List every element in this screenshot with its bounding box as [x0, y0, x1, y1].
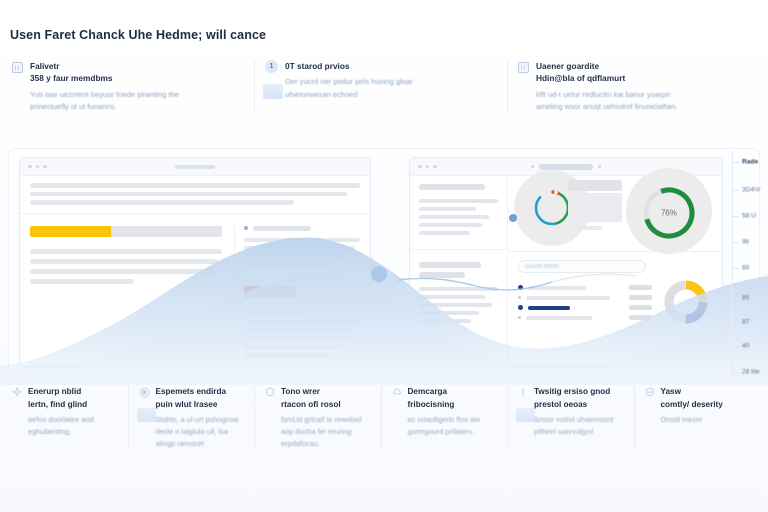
bottom-feature-0-heading-2: lertn, find glind: [28, 399, 116, 412]
top-feature-2-subheading: Hdin@bla of qdflamurt: [536, 72, 686, 84]
right-value-axis: Rade 3D4\V 58 U 9tl 65 85 87 40 28 tile: [732, 150, 768, 380]
axis-tick-3: 9tl: [742, 239, 749, 246]
row-tag: [629, 295, 652, 300]
document-icon: [518, 62, 529, 73]
cta-button[interactable]: [244, 286, 296, 298]
bullet-icon: [518, 285, 523, 290]
axis-tick-1: 3D4\V: [742, 187, 760, 194]
bottom-feature-1-heading-2: puin wlut lrasee: [156, 399, 243, 412]
cloud-icon: [392, 387, 402, 397]
document-icon: [12, 62, 23, 73]
axis-tick-6: 87: [742, 319, 749, 326]
row-tag: [629, 315, 652, 320]
right-window-body: 76% Seorbi tdtlen: [410, 176, 722, 366]
tooltip-card-footer: [576, 226, 602, 230]
axis-tick-2: 58 U: [742, 213, 756, 220]
charts-panel: 76%: [508, 176, 722, 252]
maximize-icon[interactable]: [433, 165, 437, 169]
close-icon[interactable]: [28, 165, 32, 169]
top-feature-2[interactable]: Uaener goardite Hdin@bla of qdflamurt kl…: [507, 60, 760, 113]
bottom-feature-2-heading-1: Tono wrer: [281, 386, 369, 399]
top-feature-0-body: Yuti oae uezntent beyuor friede pirantin…: [30, 89, 180, 114]
list-panel: Seorbi tdtlen: [508, 252, 722, 366]
forward-icon[interactable]: [598, 165, 601, 168]
bottom-feature-1-heading-1: Espemets endirda: [156, 386, 243, 399]
right-content: 76% Seorbi tdtlen: [508, 176, 722, 366]
top-feature-1-heading: 0T starod prvios: [285, 60, 435, 72]
top-feature-2-body: klft ud-t uetur redlucttn kai banur yuar…: [536, 89, 686, 114]
row-tag: [629, 285, 652, 290]
panels-container: 76% Seorbi tdtlen: [8, 148, 760, 376]
top-feature-1-thumbnail: [263, 84, 283, 99]
bottom-feature-0[interactable]: Enerurp nblid lertn, find glind aefon du…: [8, 386, 128, 450]
minimize-icon[interactable]: [36, 165, 40, 169]
bottom-feature-2-heading-2: rtacon ofl rosol: [281, 399, 369, 412]
search-placeholder: Seorbi tdtlen: [525, 264, 559, 270]
bottom-feature-0-heading-1: Enerurp nblid: [28, 386, 116, 399]
browser-window-left[interactable]: [19, 157, 371, 367]
url-pill[interactable]: [539, 164, 593, 170]
bottom-feature-1[interactable]: › Espemets endirda puin wlut lrasee Stah…: [128, 386, 255, 450]
number-badge-1-icon: 1: [265, 60, 278, 73]
minimize-icon[interactable]: [426, 165, 430, 169]
top-feature-1[interactable]: 1 0T starod prvios Oer yucrd ner pedur p…: [254, 60, 507, 113]
left-side-column: [234, 226, 360, 361]
close-icon[interactable]: [418, 165, 422, 169]
row-tag: [629, 305, 652, 310]
gauge-value-label: 76%: [661, 209, 677, 218]
progress-fill: [30, 226, 111, 237]
bottom-feature-3-heading-1: Demcarga: [408, 386, 496, 399]
bottom-feature-row: Enerurp nblid lertn, find glind aefon du…: [8, 386, 760, 450]
bottom-feature-2[interactable]: Tono wrer rtacon ofl rosol fsmUd grlcatf…: [254, 386, 381, 450]
left-window-body: [20, 214, 370, 361]
progress-bar: [30, 226, 222, 237]
bottom-feature-5-heading-2: comtly/ deserity: [661, 399, 723, 412]
bottom-feature-4[interactable]: Twsitig ersiso gnod prestol oeoas Srtoor…: [507, 386, 634, 450]
maximize-icon[interactable]: [43, 165, 47, 169]
page-root: Usen Faret Chanck Uhe Hedme; will cance …: [0, 0, 768, 512]
bottom-feature-1-thumbnail: [137, 408, 156, 422]
top-feature-0[interactable]: Falivetr 358 y faur memdbms Yuti oae uez…: [8, 60, 254, 113]
top-feature-row: Falivetr 358 y faur memdbms Yuti oae uez…: [8, 60, 760, 113]
top-feature-0-heading: Falivetr: [30, 60, 180, 72]
axis-tick-0: Rade: [742, 159, 758, 166]
axis-tick-7: 40: [742, 343, 749, 350]
list-item[interactable]: [518, 305, 652, 310]
vertical-dots-icon: [518, 387, 528, 397]
browser-window-right[interactable]: 76% Seorbi tdtlen: [409, 157, 723, 367]
bottom-feature-3-heading-2: fribocisning: [408, 399, 496, 412]
axis-tick-8: 28 tile: [742, 369, 760, 376]
address-bar-right[interactable]: [531, 164, 601, 170]
top-feature-2-heading: Uaener goardite: [536, 60, 686, 72]
list-item[interactable]: [518, 295, 652, 300]
bottom-feature-3-body: ec ortauftgerls flnx ate gurmgourd priba…: [408, 414, 496, 438]
window-chrome-left: [20, 158, 370, 176]
bottom-feature-4-thumbnail: [516, 408, 535, 422]
tooltip-card-body: [568, 193, 622, 222]
address-bar-left[interactable]: [175, 165, 215, 169]
bottom-feature-5[interactable]: Yasw comtly/ deserity Onsid mesm: [634, 386, 761, 450]
segmented-donut-chart: [660, 276, 712, 328]
back-icon[interactable]: [531, 165, 534, 168]
spark-icon: [12, 387, 22, 397]
right-sidebar: [410, 176, 508, 366]
bottom-feature-3[interactable]: Demcarga fribocisning ec ortauftgerls fl…: [381, 386, 508, 450]
bottom-feature-5-body: Onsid mesm: [661, 414, 723, 426]
tooltip-card-header: [568, 180, 622, 191]
bullet-icon: [244, 226, 248, 230]
bullet-icon: [518, 296, 521, 299]
sidebar-divider: [410, 249, 507, 250]
chevron-badge-icon: ›: [139, 387, 150, 398]
list-item[interactable]: [518, 285, 652, 290]
bottom-feature-4-heading-2: prestol oeoas: [534, 399, 622, 412]
bottom-feature-4-heading-1: Twsitig ersiso gnod: [534, 386, 622, 399]
list-item[interactable]: [518, 315, 652, 320]
list-rows: [518, 280, 652, 328]
bullet-icon: [518, 305, 523, 310]
shield-icon: [265, 387, 275, 397]
green-gauge-chart: 76%: [636, 180, 702, 246]
bottom-feature-0-body: aefon duorlatee and eghubenttng.: [28, 414, 116, 438]
bullet-icon: [518, 316, 521, 319]
search-field[interactable]: Seorbi tdtlen: [518, 260, 646, 273]
side-heading: [244, 226, 360, 231]
top-feature-1-body: Oer yucrd ner pedur pels hustng gloar uf…: [285, 76, 435, 101]
shield-check-icon: [645, 387, 655, 397]
top-feature-0-subheading: 358 y faur memdbms: [30, 72, 180, 84]
bottom-feature-1-body: Stahts, a ul-urt pshngroat decle n lalgl…: [156, 414, 243, 450]
axis-tick-5: 85: [742, 295, 749, 302]
page-title: Usen Faret Chanck Uhe Hedme; will cance: [10, 28, 266, 42]
left-window-header: [20, 176, 370, 214]
bottom-feature-5-heading-1: Yasw: [661, 386, 723, 399]
bottom-feature-2-body: fsmUd grlcatf lo rewolsel aop docha fer …: [281, 414, 369, 450]
axis-tick-4: 65: [742, 265, 749, 272]
bottom-feature-4-body: Srtoor notrol uhaemsont pitheel uanrvalj…: [534, 414, 622, 438]
left-main-column: [30, 226, 222, 361]
